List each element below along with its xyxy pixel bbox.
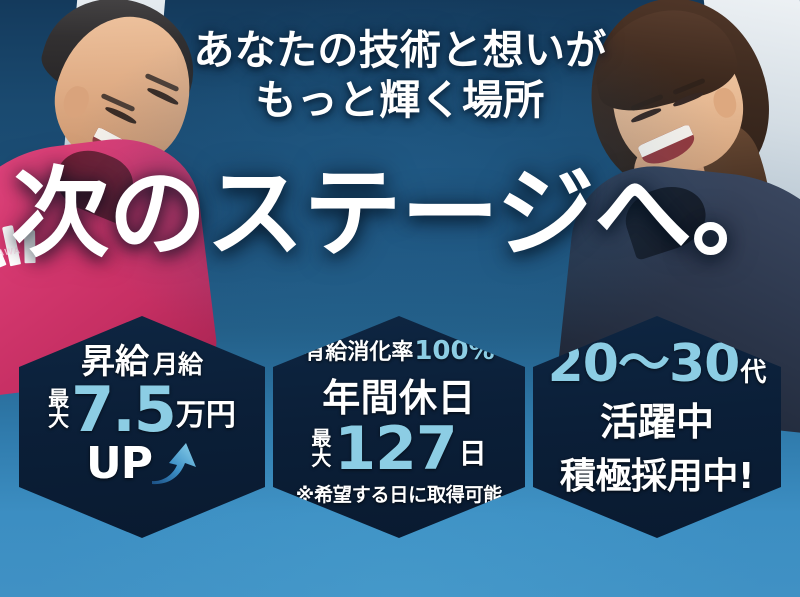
page-title: 次のステージへ。: [0, 165, 800, 263]
tagline: あなたの技術と想いが もっと輝く場所: [0, 26, 800, 125]
tagline-line-2: もっと輝く場所: [0, 76, 800, 124]
badge-age-line-2: 活躍中: [600, 391, 714, 446]
badge-salary: 昇給 月給 最 大 7.5 万円 UP: [19, 316, 265, 538]
badge-holidays-top-row: 有給消化率 100%: [303, 334, 494, 366]
badge-holidays-unit: 日: [459, 432, 487, 472]
tagline-line-1: あなたの技術と想いが: [0, 26, 800, 74]
recruitment-banner: KAWA あなたの技術と想いが もっと輝く場所 次のステージへ。 昇給: [0, 0, 800, 597]
badge-age-range-row: 20～30 代: [548, 340, 767, 389]
badge-age-suffix: 代: [740, 352, 766, 389]
badge-holidays-top-value: 100%: [414, 336, 494, 366]
badge-salary-number: 7.5: [71, 381, 175, 440]
badge-holidays-note: ※希望する日に取得可能: [296, 480, 502, 507]
up-arrow-icon: [150, 441, 198, 485]
badge-holidays-qualifier: 最 大: [311, 429, 331, 468]
badge-age: 20～30 代 活躍中 積極採用中!: [533, 316, 781, 538]
badge-holidays-qualifier-char-2: 大: [311, 449, 331, 469]
badge-holidays-value-row: 最 大 127 日: [311, 421, 486, 478]
badge-age-range: 20～30: [548, 340, 740, 389]
badge-holidays-top-label: 有給消化率: [303, 334, 413, 366]
badge-salary-qualifier: 最 大: [48, 389, 69, 430]
badge-row: 昇給 月給 最 大 7.5 万円 UP: [0, 316, 800, 546]
badge-salary-qualifier-char-2: 大: [48, 409, 69, 430]
badge-salary-value-row: 最 大 7.5 万円: [48, 381, 236, 440]
badge-holidays: 有給消化率 100% 年間休日 最 大 127 日 ※希望する日に取得可能: [273, 316, 525, 538]
badge-salary-up-row: UP: [86, 438, 198, 489]
badge-age-line-3: 積極採用中!: [560, 447, 754, 499]
badge-salary-unit: 万円: [176, 390, 236, 434]
badge-holidays-number: 127: [334, 421, 456, 478]
badge-salary-up-label: UP: [86, 438, 152, 489]
